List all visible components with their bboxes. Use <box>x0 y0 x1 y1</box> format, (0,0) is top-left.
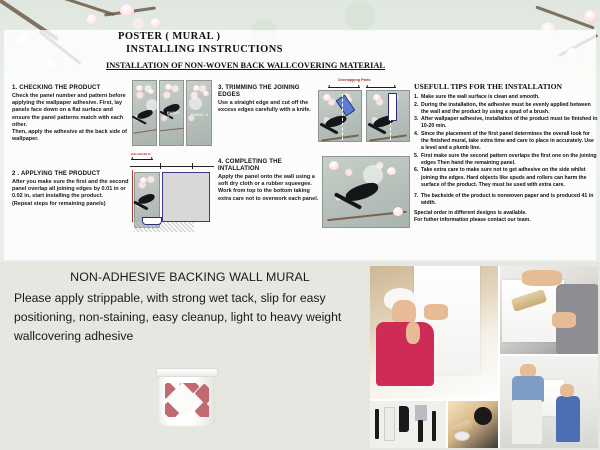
tip-number: 7. <box>414 193 418 200</box>
step-2-block: 2 . APPLYING THE PRODUCT After you make … <box>12 170 132 208</box>
promo-block: NON-ADHESIVE BACKING WALL MURAL Please a… <box>14 270 366 346</box>
measure-arrow <box>131 159 153 160</box>
figure-trimming-edges: Overlapping Parts <box>318 78 412 144</box>
tip-number: 5. <box>414 153 418 160</box>
poster-instruction-sheet: POSTER ( MURAL ) INSTALLING INSTRUCTIONS… <box>0 0 600 450</box>
step-4-body: Apply the panel onto the wall using a so… <box>218 174 324 203</box>
tip-item: 1.Make sure the wall surface is clean an… <box>414 94 598 101</box>
straight-edge-tool <box>388 93 397 121</box>
card-header: POSTER ( MURAL ) INSTALLING INSTRUCTIONS… <box>100 30 520 71</box>
squeegee-tool <box>142 217 162 225</box>
photo-man-and-child-hanging <box>500 356 598 448</box>
step-1-block: 1. CHECKING THE PRODUCT Check the panel … <box>12 84 132 143</box>
tip-item: 5.First make sure the second pattern ove… <box>414 153 598 167</box>
photo-woman-hanging-wallpaper <box>370 266 498 399</box>
step-2-body: After you make sure the first and the se… <box>12 179 132 208</box>
photo-collage <box>370 266 598 448</box>
tip-item: 2.During the installation, the adhesive … <box>414 102 598 116</box>
tip-text: Since the placement of the first panel d… <box>421 131 594 151</box>
blossom <box>120 4 134 16</box>
panel-3-image: PANEL 3 <box>186 80 212 146</box>
tip-number: 2. <box>414 102 418 109</box>
step-3-body: Use a straight edge and cut off the exce… <box>218 100 322 114</box>
photo-paste-table-tools <box>448 401 498 448</box>
step-2-heading: 2 . APPLYING THE PRODUCT <box>12 170 132 177</box>
figure-three-panels: PANEL 2 PANEL 3 PANEL 1 <box>132 80 212 146</box>
step-1-heading: 1. CHECKING THE PRODUCT <box>12 84 132 91</box>
tip-number: 4. <box>414 131 418 138</box>
photo-roller-on-paper <box>500 266 598 354</box>
wall-surface <box>162 172 210 222</box>
tip-text: Take extra care to make sure not to get … <box>421 167 586 187</box>
tip-text: During the installation, the adhesive mu… <box>421 102 591 115</box>
figure-applying-panel <box>130 162 216 234</box>
page-subtitle: INSTALLATION OF NON-WOVEN BACK WALLCOVER… <box>100 60 520 71</box>
final-mural-image <box>322 156 410 228</box>
blossom <box>150 18 161 28</box>
photo-tool-set <box>370 401 446 448</box>
panel-1-image <box>132 80 157 146</box>
tip-text: First make sure the second pattern overl… <box>421 153 597 166</box>
tip-text: Make sure the wall surface is clean and … <box>421 94 540 100</box>
tip-item: 4.Since the placement of the first panel… <box>414 131 598 152</box>
tips-closing-line: Special order in different designs is av… <box>414 210 598 217</box>
instruction-card: POSTER ( MURAL ) INSTALLING INSTRUCTIONS… <box>4 30 596 260</box>
tip-item: 7.The backside of the product is nonwove… <box>414 193 598 207</box>
bottom-section: NON-ADHESIVE BACKING WALL MURAL Please a… <box>0 262 600 450</box>
panel-2-label: PANEL 2 <box>167 111 183 119</box>
step-4-block: 4. COMPLETING THE INTALLATION Apply the … <box>218 158 324 203</box>
step-3-heading: 3. TRIMMING THE JOINING EDGES <box>218 84 322 98</box>
tips-list: 1.Make sure the wall surface is clean an… <box>414 94 598 207</box>
promo-body: Please apply strippable, with strong wet… <box>14 289 366 346</box>
tip-number: 1. <box>414 94 418 101</box>
blossom <box>584 10 597 22</box>
tip-text: The backside of the product is nonwoven … <box>421 193 593 206</box>
figure-completing-installation <box>322 156 410 230</box>
step-1-body: Check the panel number and pattern befor… <box>12 93 132 143</box>
tip-text: After wallpaper adhesive, installation o… <box>421 116 597 129</box>
promo-heading: NON-ADHESIVE BACKING WALL MURAL <box>14 270 366 284</box>
tips-closing-line: For futher information please contact ou… <box>414 217 598 224</box>
tip-number: 6. <box>414 167 418 174</box>
overlapping-parts-label: Overlapping Parts <box>338 78 371 82</box>
tips-block: USEFULL TIPS FOR THE INSTALLATION 1.Make… <box>414 82 598 224</box>
tips-heading: USEFULL TIPS FOR THE INSTALLATION <box>414 82 598 91</box>
adhesive-bucket-image <box>156 366 218 428</box>
page-title-line2: INSTALLING INSTRUCTIONS <box>100 43 520 56</box>
panel-2-image: PANEL 2 <box>159 80 184 146</box>
blossom <box>86 14 98 25</box>
page-title-line1: POSTER ( MURAL ) <box>100 30 520 43</box>
measure-label: 0.01 in/0.02 in <box>131 152 151 156</box>
tip-item: 3.After wallpaper adhesive, installation… <box>414 116 598 130</box>
step-3-block: 3. TRIMMING THE JOINING EDGES Use a stra… <box>218 84 322 114</box>
step-4-heading: 4. COMPLETING THE INTALLATION <box>218 158 324 172</box>
tip-item: 6.Take extra care to make sure not to ge… <box>414 167 598 188</box>
tip-number: 3. <box>414 116 418 123</box>
